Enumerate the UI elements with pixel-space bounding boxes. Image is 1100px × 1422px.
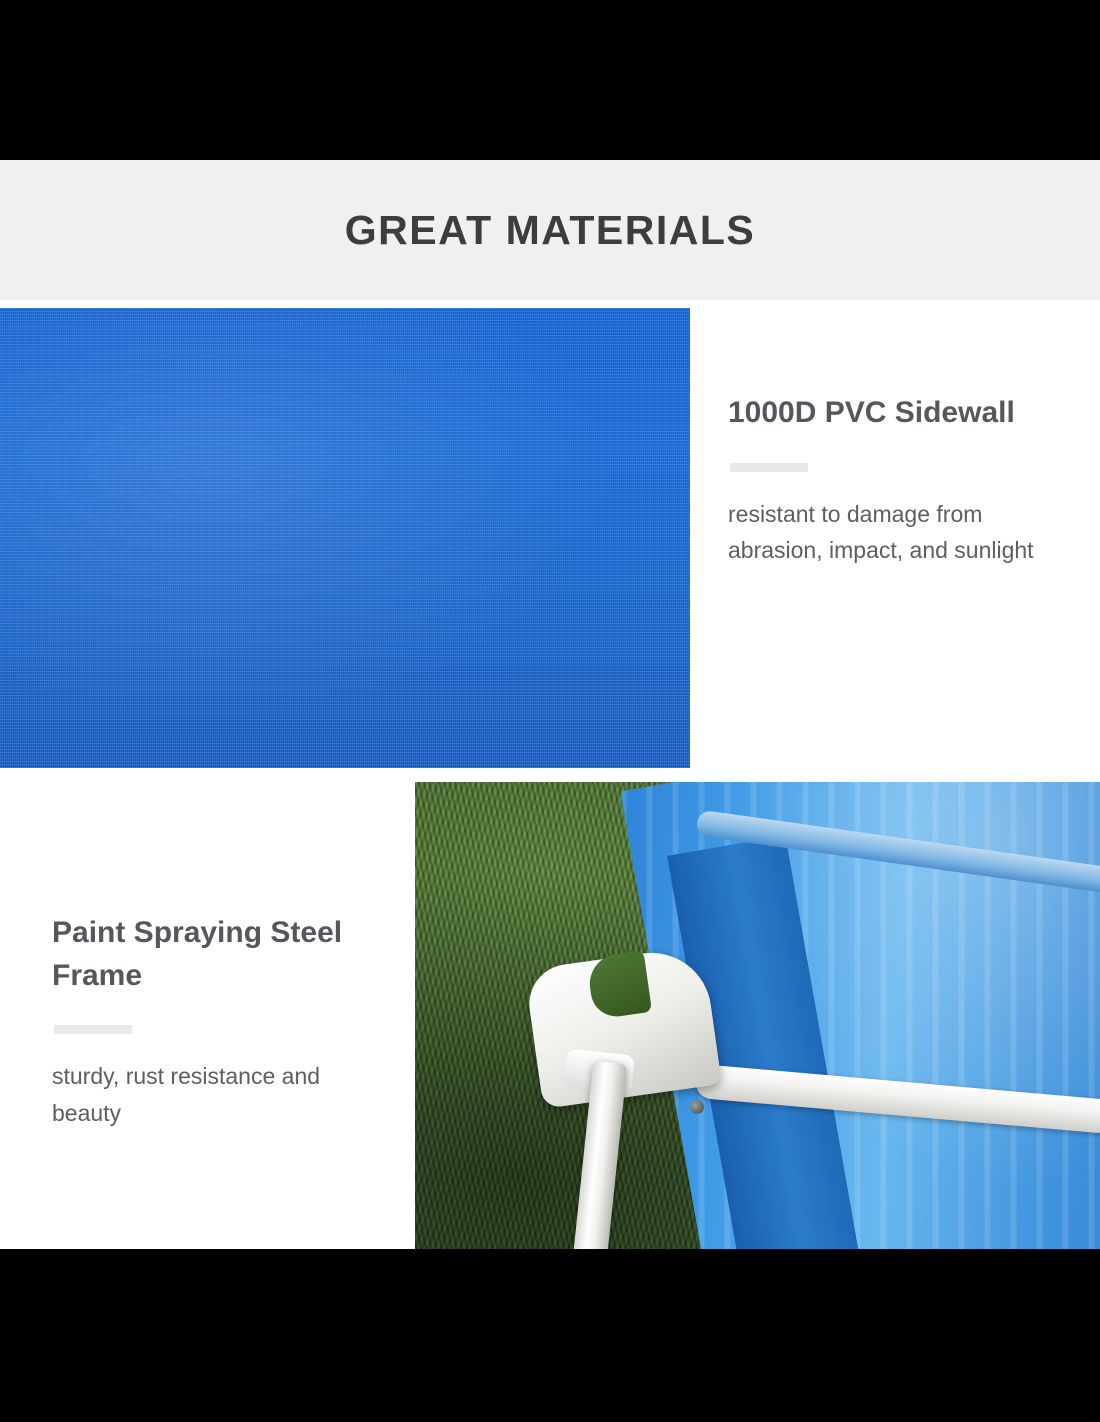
- page-title: GREAT MATERIALS: [345, 207, 755, 254]
- header-banner: GREAT MATERIALS: [0, 160, 1100, 300]
- title-divider: [54, 1025, 132, 1034]
- feature-row-pvc-sidewall: 1000D PVC Sidewall resistant to damage f…: [0, 308, 1100, 768]
- page-root: GREAT MATERIALS 1000D PVC Sidewall resis…: [0, 0, 1100, 1422]
- letterbox-bottom: [0, 1249, 1100, 1422]
- pool-corner-photo: [415, 782, 1100, 1249]
- pvc-sidewall-text-block: 1000D PVC Sidewall resistant to damage f…: [690, 308, 1100, 768]
- steel-frame-description: sturdy, rust resistance and beauty: [52, 1058, 385, 1131]
- content-panel: GREAT MATERIALS 1000D PVC Sidewall resis…: [0, 160, 1100, 1249]
- title-divider: [730, 463, 808, 472]
- steel-frame-title: Paint Spraying Steel Frame: [52, 912, 385, 997]
- bolt-icon: [690, 1100, 704, 1114]
- pvc-sidewall-title: 1000D PVC Sidewall: [728, 392, 1058, 435]
- pvc-fabric-image: [0, 308, 690, 768]
- steel-frame-text-block: Paint Spraying Steel Frame sturdy, rust …: [0, 782, 415, 1249]
- feature-row-steel-frame: Paint Spraying Steel Frame sturdy, rust …: [0, 782, 1100, 1249]
- pvc-sidewall-description: resistant to damage from abrasion, impac…: [728, 496, 1058, 569]
